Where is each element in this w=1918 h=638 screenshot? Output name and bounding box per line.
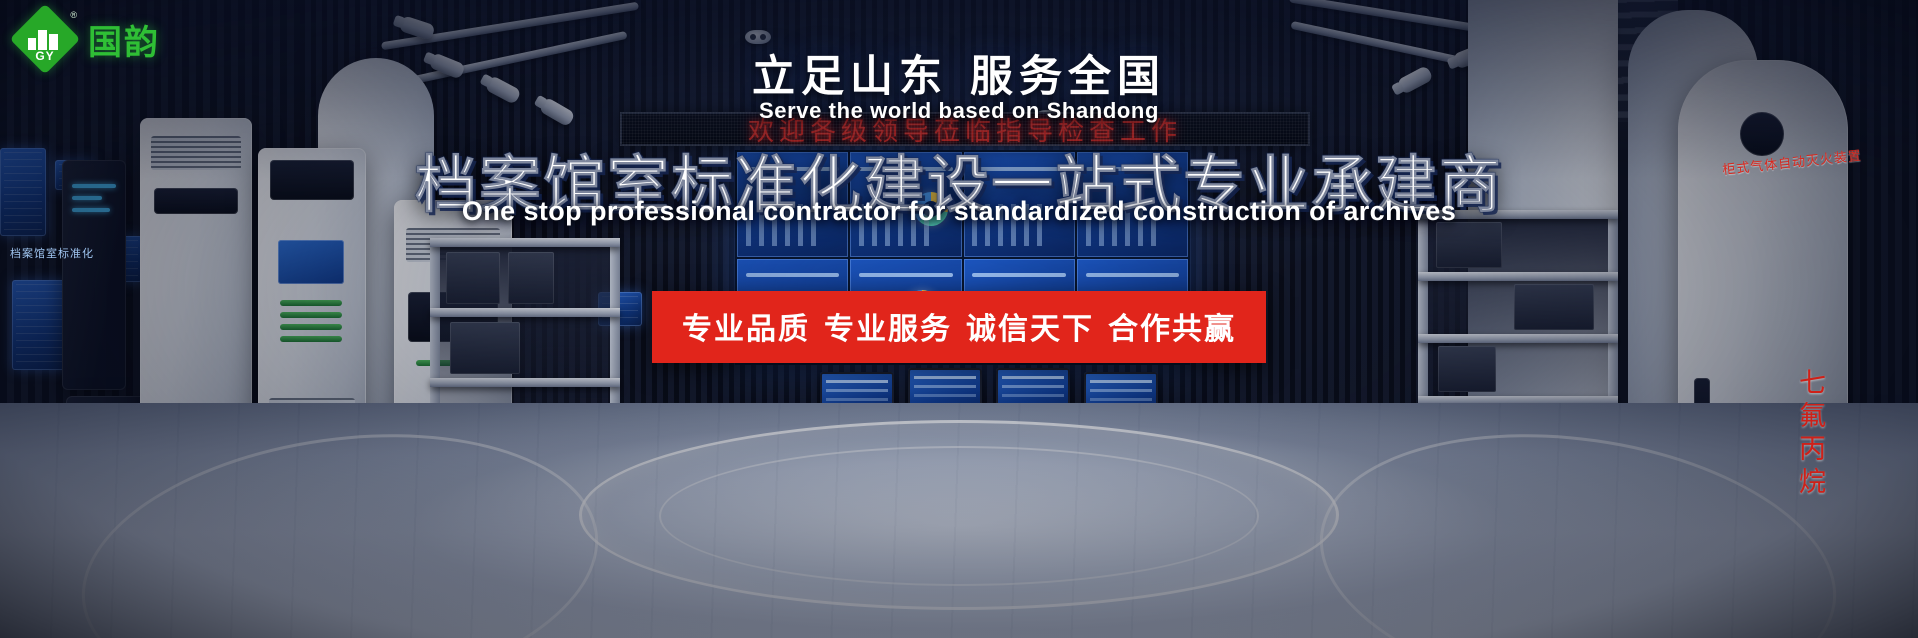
- slogan-part-1: 专业品质: [682, 312, 810, 347]
- cabinet-vertical-label: 七氟丙烷: [1792, 368, 1826, 500]
- slogan-banner[interactable]: 专业品质专业服务诚信天下合作共赢: [652, 291, 1266, 363]
- left-panel-label: 档案馆室标准化: [10, 245, 94, 261]
- slogan-part-3: 诚信天下: [966, 312, 1094, 347]
- tagline-part-1: 立足山东: [752, 52, 948, 102]
- tagline-english: Serve the world based on Shandong: [0, 98, 1918, 124]
- tagline-part-2: 服务全国: [970, 52, 1166, 102]
- banner-overlay: GY ® 国韵 立足山东服务全国 Serve the world based o…: [0, 0, 1918, 638]
- registered-mark: ®: [70, 10, 77, 20]
- banner-stage: 国韵电子: [0, 0, 1918, 638]
- slogan-part-2: 专业服务: [824, 312, 952, 347]
- tagline-chinese: 立足山东服务全国: [0, 42, 1918, 104]
- slogan-part-4: 合作共赢: [1108, 312, 1236, 347]
- page-subtitle: One stop professional contractor for sta…: [0, 196, 1918, 227]
